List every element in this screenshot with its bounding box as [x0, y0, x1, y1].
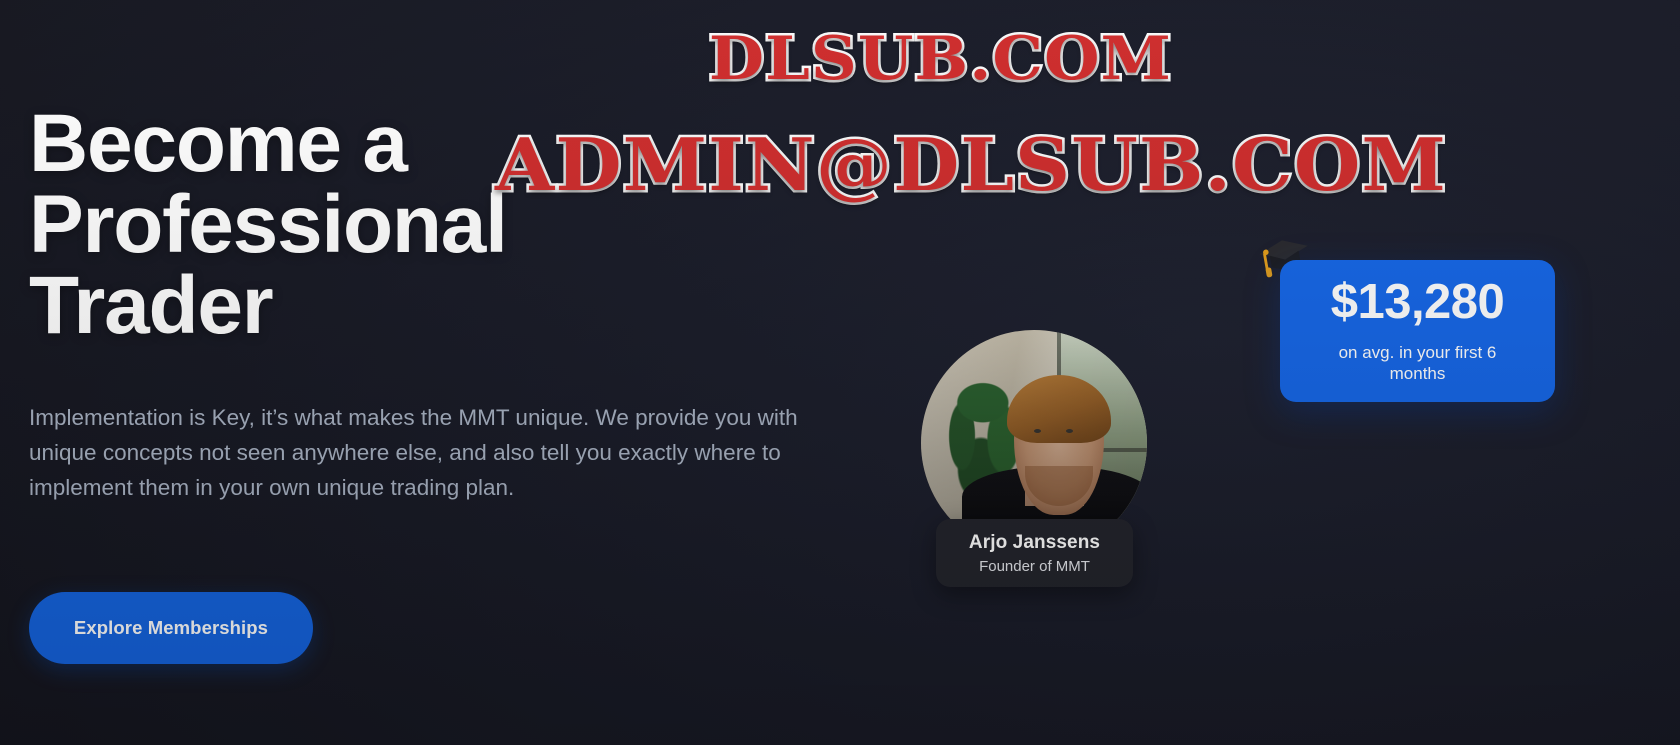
page-title: Become a Professional Trader: [29, 104, 629, 346]
stat-badge: $13,280 on avg. in your first 6 months: [1280, 260, 1555, 402]
hero-section: Become a Professional Trader Implementat…: [0, 0, 1680, 745]
profile-name: Arjo Janssens: [969, 532, 1100, 554]
profile-role: Founder of MMT: [979, 558, 1090, 575]
profile-name-card: Arjo Janssens Founder of MMT: [936, 519, 1133, 587]
hero-description: Implementation is Key, it’s what makes t…: [29, 401, 804, 505]
hero-copy-block: Become a Professional Trader Implementat…: [29, 104, 869, 505]
stat-amount: $13,280: [1331, 278, 1505, 327]
watermark-site: DLSUB.COM: [709, 24, 1172, 94]
stat-caption: on avg. in your first 6 months: [1310, 343, 1525, 384]
explore-memberships-button[interactable]: Explore Memberships: [29, 592, 313, 664]
